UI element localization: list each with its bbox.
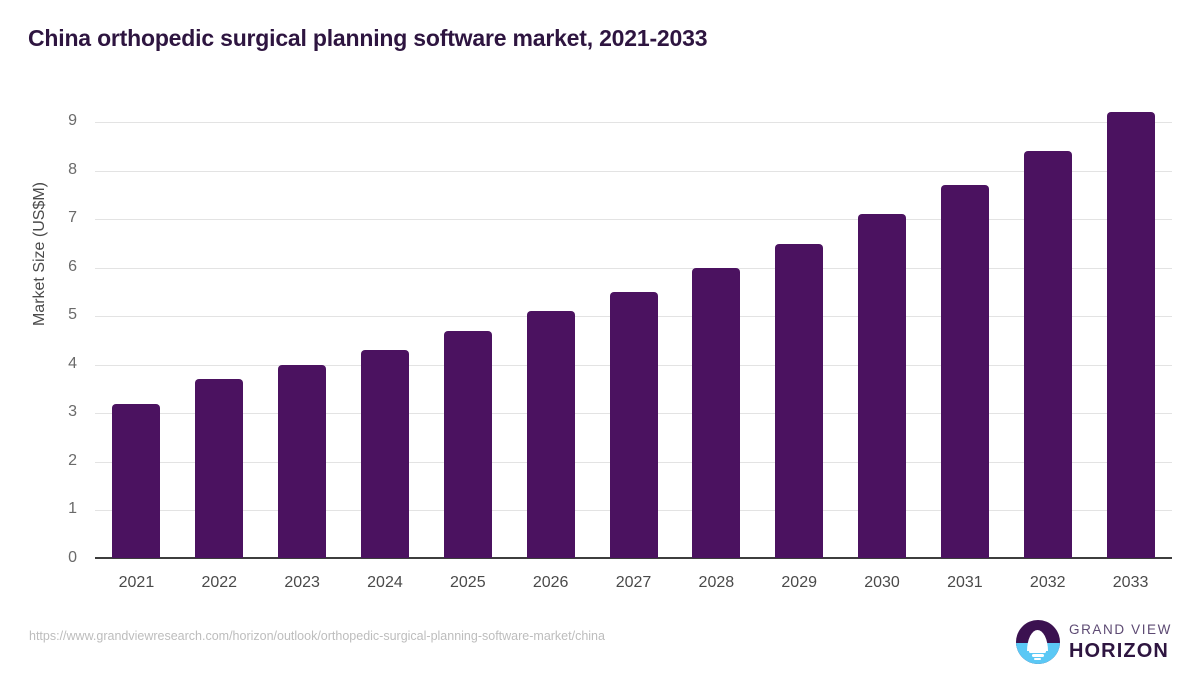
y-axis-tick-label: 3 — [68, 403, 77, 421]
horizon-sun-icon — [1016, 620, 1060, 664]
bar[interactable] — [278, 365, 326, 558]
chart-plot-wrapper: Market Size (US$M) 0123456789 2021202220… — [0, 0, 1200, 675]
y-axis-tick-label: 1 — [68, 500, 77, 518]
bar[interactable] — [361, 350, 409, 558]
y-axis-tick-label: 9 — [68, 112, 77, 130]
bar[interactable] — [527, 311, 575, 558]
gridline — [95, 171, 1172, 172]
gridline — [95, 219, 1172, 220]
bar[interactable] — [1107, 112, 1155, 558]
logo-ray-1 — [1029, 650, 1046, 653]
y-axis-tick-label: 5 — [68, 306, 77, 324]
bar[interactable] — [444, 331, 492, 558]
gridline — [95, 122, 1172, 123]
source-url[interactable]: https://www.grandviewresearch.com/horizo… — [29, 629, 605, 643]
y-axis-tick-label: 4 — [68, 355, 77, 373]
brand-logo: GRAND VIEW HORIZON — [1016, 620, 1172, 664]
bar[interactable] — [1024, 151, 1072, 558]
bar[interactable] — [692, 268, 740, 558]
bar[interactable] — [195, 379, 243, 558]
y-axis-tick-label: 7 — [68, 209, 77, 227]
plot-area: 0123456789 — [95, 103, 1172, 559]
y-axis-title: Market Size (US$M) — [31, 154, 49, 354]
logo-text-top: GRAND VIEW — [1069, 623, 1172, 637]
logo-ray-2 — [1032, 654, 1044, 657]
bar[interactable] — [775, 244, 823, 558]
bar[interactable] — [112, 404, 160, 558]
x-axis-tick-label: 2033 — [1081, 574, 1181, 592]
logo-sun-shape — [1027, 630, 1048, 651]
bar[interactable] — [941, 185, 989, 558]
y-axis-tick-label: 2 — [68, 452, 77, 470]
y-axis-tick-label: 0 — [68, 549, 77, 567]
bar[interactable] — [610, 292, 658, 558]
y-axis-tick-label: 6 — [68, 258, 77, 276]
logo-text-bottom: HORIZON — [1069, 641, 1172, 661]
chart-card: China orthopedic surgical planning softw… — [0, 0, 1200, 675]
logo-text: GRAND VIEW HORIZON — [1069, 623, 1172, 662]
bar[interactable] — [858, 214, 906, 558]
y-axis-tick-label: 8 — [68, 161, 77, 179]
gridline — [95, 268, 1172, 269]
